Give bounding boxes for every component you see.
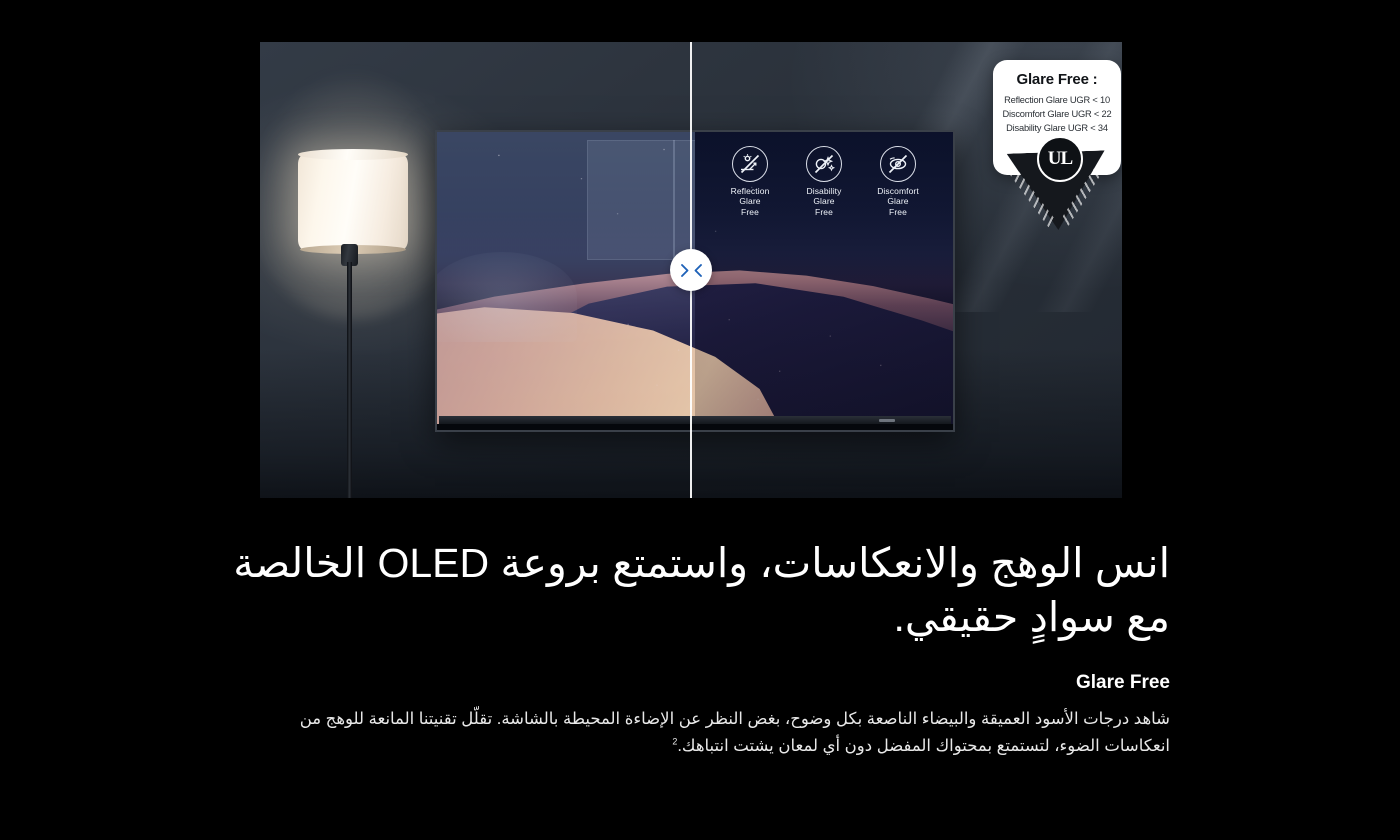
ul-glare-free-badge: Glare Free : Reflection Glare UGR < 10 D… — [982, 60, 1122, 235]
screen-half-with-glare — [437, 132, 695, 424]
hero-image: Discomfort Glare Free — [260, 42, 1122, 498]
copy-block: انس الوهج والانعكاسات، واستمتع بروعة OLE… — [220, 536, 1170, 760]
feature-subtitle: Glare Free — [220, 672, 1170, 694]
label-line-2: Glare — [739, 196, 760, 206]
ul-badge-title: Glare Free : — [1001, 71, 1113, 88]
comparison-slider-handle[interactable] — [670, 249, 712, 291]
reflection-lamp-glow — [437, 252, 577, 342]
reflection-shelf-1 — [587, 140, 675, 260]
reflection-glare-free-icon — [732, 146, 768, 182]
discomfort-glare-free-icon — [880, 146, 916, 182]
label-line-2: Glare — [887, 196, 908, 206]
label-line-1: Disability — [806, 186, 841, 196]
ul-badge-line-2: Discomfort Glare UGR < 22 — [1001, 108, 1113, 122]
glare-free-item-disability: Disability Glare Free — [795, 146, 853, 217]
label-line-2: Glare — [813, 196, 834, 206]
chevron-left-icon — [693, 263, 704, 278]
label-line-1: Discomfort — [877, 186, 919, 196]
tv-brand-logo — [879, 419, 895, 422]
label-line-3: Free — [815, 207, 833, 217]
feature-description: شاهد درجات الأسود العميقة والبيضاء الناص… — [280, 706, 1170, 759]
glare-free-label-disability: Disability Glare Free — [795, 186, 853, 217]
screen-half-glare-free: Discomfort Glare Free — [695, 132, 953, 424]
glare-free-label-reflection: Reflection Glare Free — [721, 186, 779, 217]
glare-free-label-discomfort: Discomfort Glare Free — [869, 186, 927, 217]
lamp-shade — [298, 154, 408, 250]
glare-free-item-reflection: Reflection Glare Free — [721, 146, 779, 217]
ul-badge-line-1: Reflection Glare UGR < 10 — [1001, 94, 1113, 108]
floor-lamp — [288, 114, 418, 498]
disability-glare-free-icon — [806, 146, 842, 182]
ul-mark-label: UL — [1048, 148, 1072, 170]
ul-certification-mark: UL — [1037, 136, 1083, 182]
lamp-pole — [347, 262, 352, 498]
page-title: انس الوهج والانعكاسات، واستمتع بروعة OLE… — [220, 536, 1170, 644]
glare-free-item-discomfort: Discomfort Glare Free — [869, 146, 927, 217]
tv-bottom-bezel — [439, 416, 951, 424]
feature-description-text: شاهد درجات الأسود العميقة والبيضاء الناص… — [300, 710, 1170, 755]
chevron-right-icon — [679, 263, 690, 278]
label-line-1: Reflection — [731, 186, 770, 196]
ul-badge-line-3: Disability Glare UGR < 34 — [1001, 122, 1113, 136]
label-line-3: Free — [741, 207, 759, 217]
label-line-3: Free — [889, 207, 907, 217]
glare-free-icon-row: Discomfort Glare Free — [721, 146, 927, 217]
